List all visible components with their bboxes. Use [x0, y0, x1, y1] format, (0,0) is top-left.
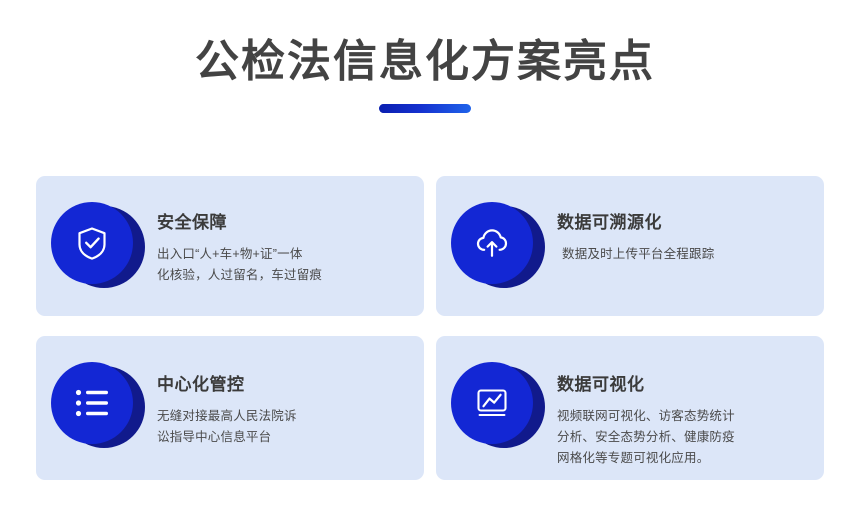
card-description: 数据及时上传平台全程跟踪: [557, 244, 808, 265]
highlight-card-centralized-control[interactable]: 中心化管控 无缝对接最高人民法院诉 讼指导中心信息平台: [36, 336, 424, 480]
card-title: 数据可溯源化: [557, 212, 808, 234]
icon-medallion: [49, 360, 147, 458]
icon-medallion: [49, 200, 147, 298]
page-header: 公检法信息化方案亮点: [0, 0, 850, 113]
shield-check-icon: [72, 223, 112, 263]
card-title: 数据可视化: [557, 374, 808, 396]
card-description: 无缝对接最高人民法院诉 讼指导中心信息平台: [157, 406, 408, 448]
highlight-card-grid: 安全保障 出入口“人+车+物+证”一体 化核验，人过留名，车过留痕: [36, 176, 824, 480]
highlight-card-data-traceability[interactable]: 数据可溯源化 数据及时上传平台全程跟踪: [436, 176, 824, 316]
chart-monitor-icon: [471, 384, 513, 422]
card-text-block: 数据可视化 视频联网可视化、访客态势统计 分析、安全态势分析、健康防疫 网格化等…: [547, 348, 808, 469]
icon-disc: [451, 202, 533, 284]
highlight-card-security[interactable]: 安全保障 出入口“人+车+物+证”一体 化核验，人过留名，车过留痕: [36, 176, 424, 316]
card-title: 安全保障: [157, 212, 408, 234]
icon-medallion: [449, 360, 547, 458]
card-text-block: 中心化管控 无缝对接最高人民法院诉 讼指导中心信息平台: [147, 348, 408, 448]
page-title: 公检法信息化方案亮点: [0, 34, 850, 90]
title-underline-bar: [379, 104, 471, 113]
icon-disc: [451, 362, 533, 444]
card-description: 视频联网可视化、访客态势统计 分析、安全态势分析、健康防疫 网格化等专题可视化应…: [557, 406, 808, 469]
highlight-card-data-visualization[interactable]: 数据可视化 视频联网可视化、访客态势统计 分析、安全态势分析、健康防疫 网格化等…: [436, 336, 824, 480]
icon-disc: [51, 202, 133, 284]
icon-medallion: [449, 200, 547, 298]
highlights-page: 公检法信息化方案亮点 安全保障 出入口“人+车+物+证”一体 化核验，: [0, 0, 850, 516]
list-bullets-icon: [72, 386, 112, 420]
card-text-block: 安全保障 出入口“人+车+物+证”一体 化核验，人过留名，车过留痕: [147, 188, 408, 286]
icon-disc: [51, 362, 133, 444]
card-text-block: 数据可溯源化 数据及时上传平台全程跟踪: [547, 188, 808, 265]
card-description: 出入口“人+车+物+证”一体 化核验，人过留名，车过留痕: [157, 244, 408, 286]
card-title: 中心化管控: [157, 374, 408, 396]
cloud-upload-icon: [471, 222, 513, 264]
